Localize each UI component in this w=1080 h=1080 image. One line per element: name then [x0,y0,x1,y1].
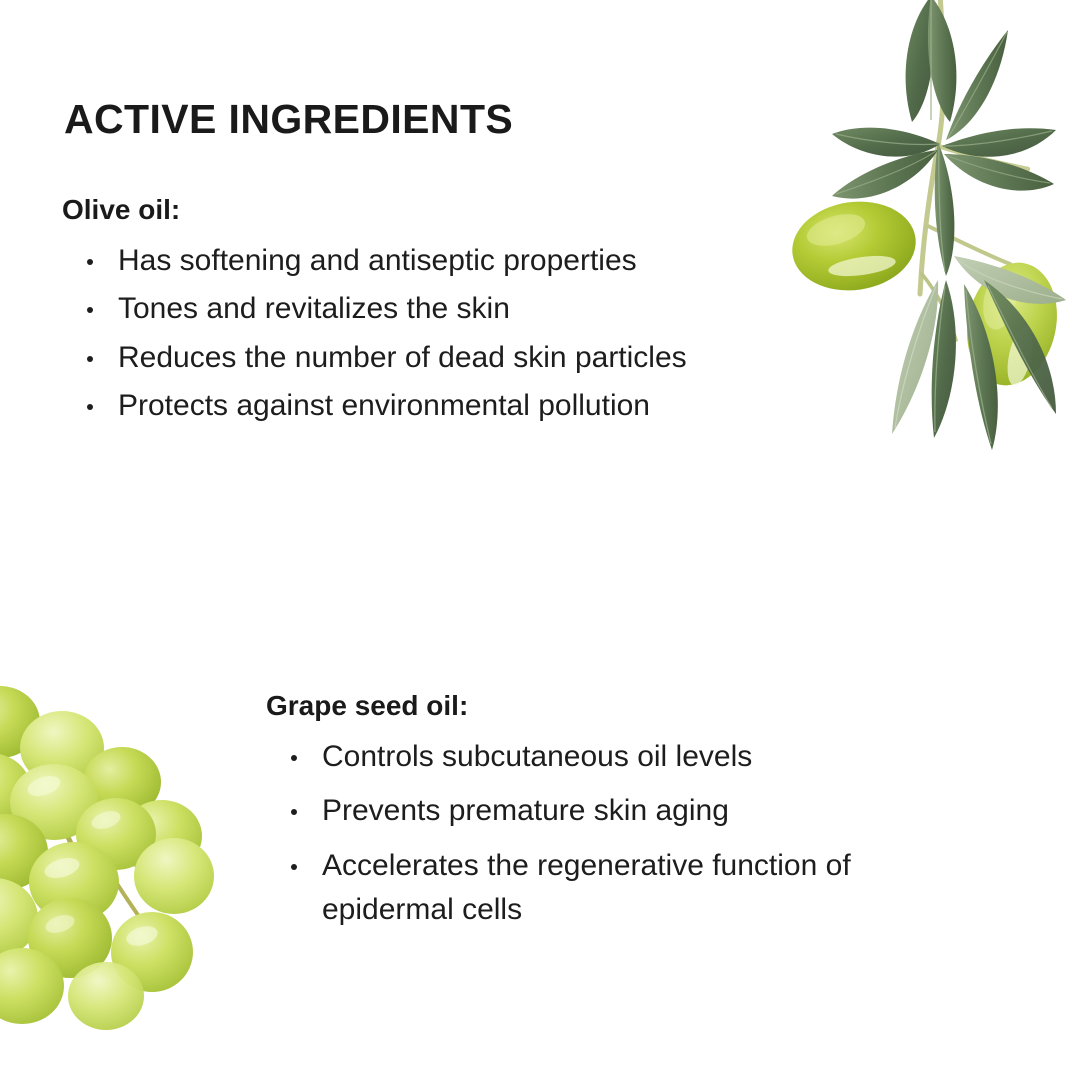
section-grape-seed-oil: Grape seed oil: Controls subcutaneous oi… [266,688,986,943]
list-item: Reduces the number of dead skin particle… [62,336,762,380]
bullet-dot-icon [87,259,93,265]
bullet-list-grape-seed-oil: Controls subcutaneous oil levels Prevent… [266,735,986,933]
page-title: ACTIVE INGREDIENTS [64,97,513,142]
list-item: Has softening and antiseptic properties [62,239,762,283]
grape-berries-front [0,878,193,1030]
list-item: Accelerates the regenerative function of… [266,844,986,933]
grape-berries-middle [0,764,214,922]
olive-leaves-middle [832,128,1056,276]
list-item-text: Accelerates the regenerative function of… [322,849,851,926]
section-heading-grape-seed-oil: Grape seed oil: [266,688,986,723]
list-item: Protects against environmental pollution [62,384,762,428]
section-olive-oil: Olive oil: Has softening and antiseptic … [62,192,762,433]
section-heading-olive-oil: Olive oil: [62,192,762,227]
olive-stems [920,0,1028,340]
olive-branch-photo [788,0,1080,514]
grape-stems [24,808,148,924]
grape-berries-back [0,686,202,893]
bullet-list-olive-oil: Has softening and antiseptic properties … [62,239,762,429]
green-grape-cluster-photo [0,686,266,1031]
list-item-text: Protects against environmental pollution [118,389,650,422]
slide-root: ACTIVE INGREDIENTS Olive oil: Has soften… [0,0,1080,1080]
list-item: Prevents premature skin aging [266,789,986,833]
list-item: Tones and revitalizes the skin [62,287,762,331]
olive-fruit-lower [956,254,1068,394]
olive-leaves-lower [892,256,1066,450]
list-item-text: Tones and revitalizes the skin [118,292,510,325]
list-item-text: Controls subcutaneous oil levels [322,740,752,773]
bullet-dot-icon [291,809,297,815]
list-item-text: Prevents premature skin aging [322,794,729,827]
grape-highlights [0,772,160,949]
olive-fruit-upper [788,194,922,298]
bullet-dot-icon [87,404,93,410]
bullet-dot-icon [291,864,297,870]
list-item-text: Reduces the number of dead skin particle… [118,341,687,374]
list-item-text: Has softening and antiseptic properties [118,244,637,277]
list-item: Controls subcutaneous oil levels [266,735,986,779]
bullet-dot-icon [291,755,297,761]
olive-leaves-upper [906,0,1008,140]
bullet-dot-icon [87,356,93,362]
bullet-dot-icon [87,307,93,313]
